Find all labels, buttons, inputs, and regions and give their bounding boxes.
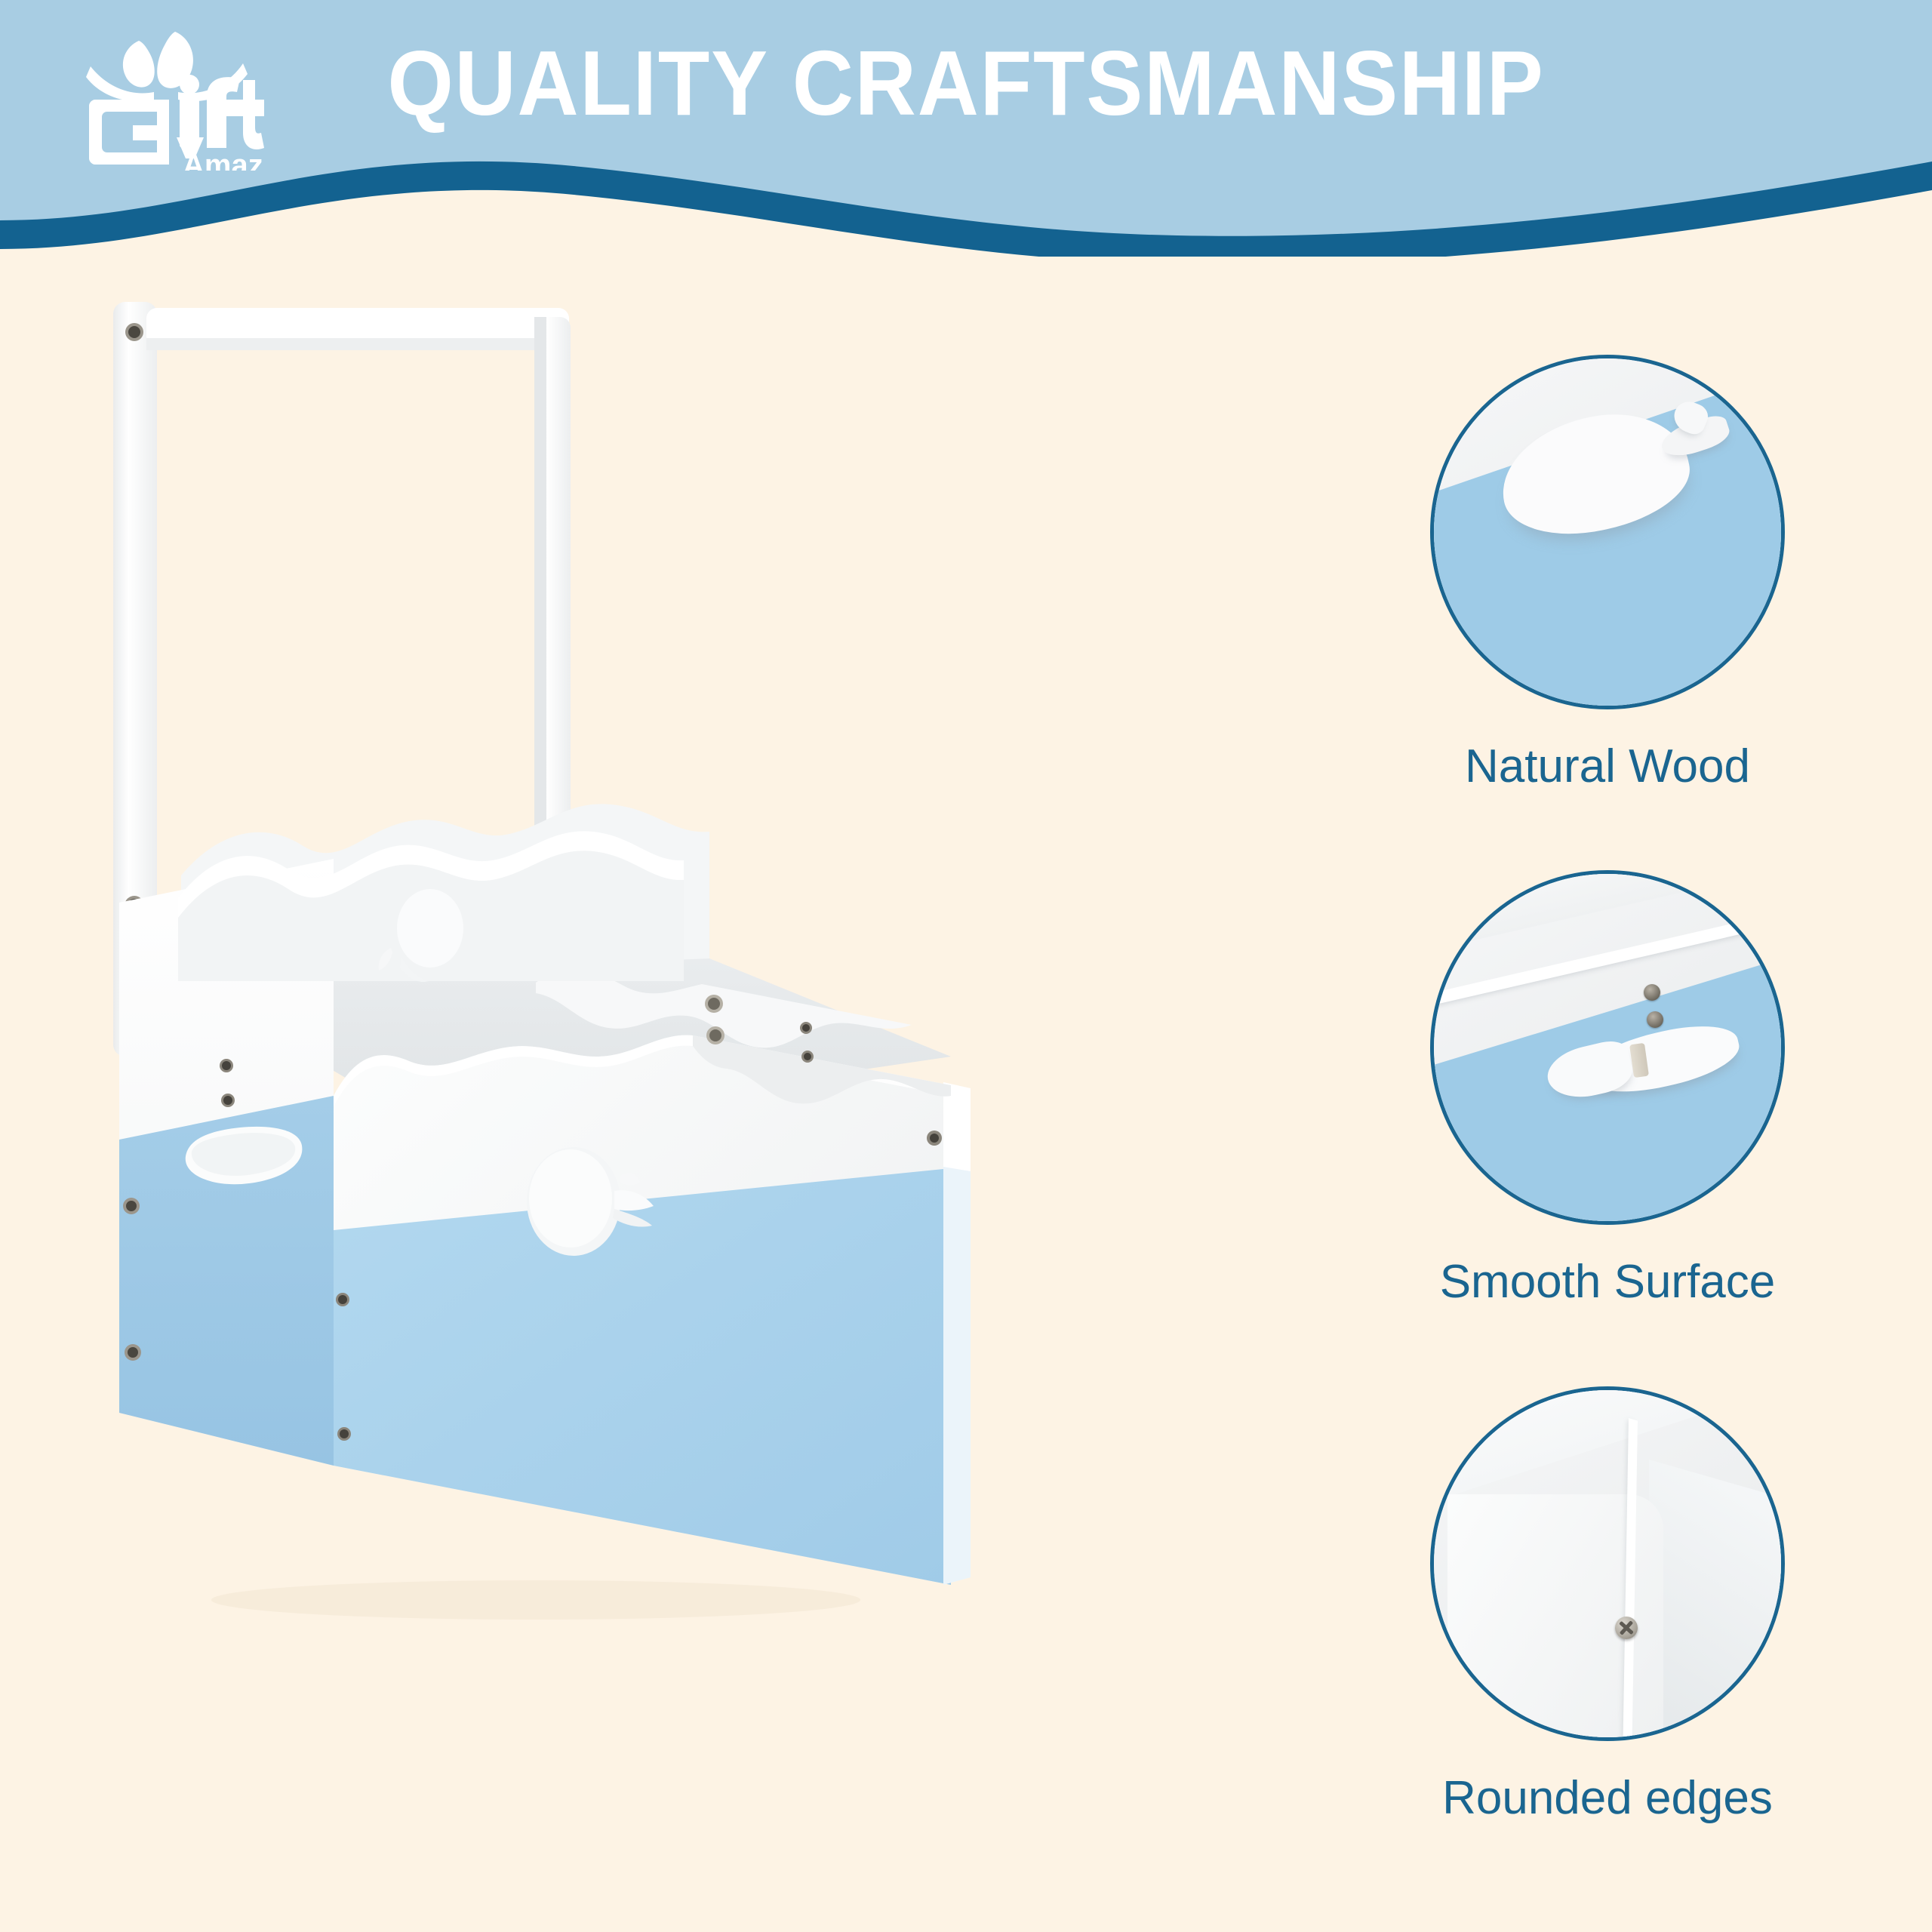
feature-item-natural-wood: Natural Wood <box>1343 355 1872 793</box>
smooth-panel-closeup-icon <box>1430 870 1785 1225</box>
feature-item-smooth-surface: Smooth Surface <box>1343 870 1872 1309</box>
rounded-corner-closeup-icon <box>1430 1386 1785 1741</box>
feature-label: Natural Wood <box>1343 740 1872 793</box>
whale-cutout-closeup-icon <box>1430 355 1785 709</box>
header-banner: Amaz QUALITY CRAFTSMANSHIP <box>0 0 1932 257</box>
product-photo <box>113 302 1245 1811</box>
screw <box>125 323 143 341</box>
box-front-panel <box>334 1035 951 1585</box>
toy-storage-box-illustration <box>113 302 1245 1811</box>
infographic-page: Amaz QUALITY CRAFTSMANSHIP <box>0 0 1932 1932</box>
feature-label: Rounded edges <box>1343 1771 1872 1825</box>
feature-list: Natural Wood Smooth Surface <box>1343 355 1872 1864</box>
feature-label: Smooth Surface <box>1343 1255 1872 1309</box>
feature-item-rounded-edges: Rounded edges <box>1343 1386 1872 1825</box>
svg-text:Amaz: Amaz <box>183 149 263 171</box>
page-title: QUALITY CRAFTSMANSHIP <box>77 30 1854 136</box>
